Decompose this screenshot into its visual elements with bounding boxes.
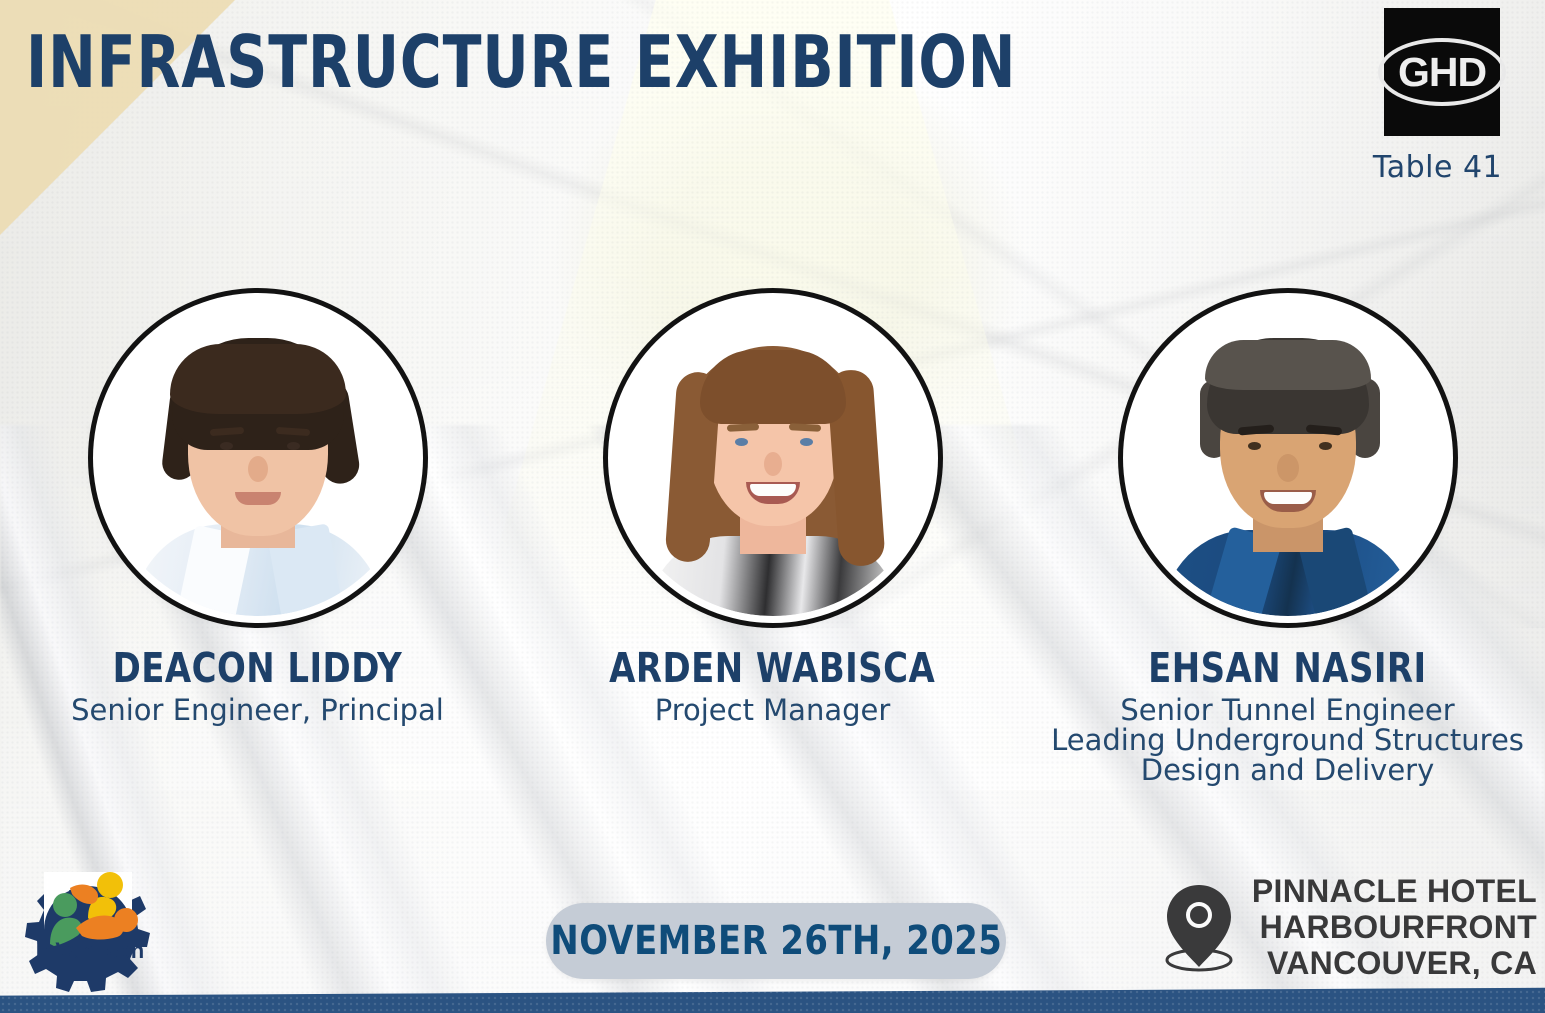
avatar (100, 300, 416, 616)
speaker-card-arden-wabisca: ARDEN WABISCA Project Manager (515, 300, 1030, 726)
venue-line: HARBOURFRONT (1252, 909, 1537, 945)
invantech-logo: InVanTech (14, 852, 166, 1002)
avatar (615, 300, 931, 616)
speaker-card-deacon-liddy: DEACON LIDDY Senior Engineer, Principal (0, 300, 515, 726)
page-title: INFRASTRUCTURE EXHIBITION (26, 26, 1016, 98)
speaker-role: Senior Engineer, Principal (71, 696, 444, 726)
portrait-hair (700, 350, 846, 424)
speaker-name: EHSAN NASIRI (1148, 644, 1427, 692)
speaker-role-line: Senior Tunnel Engineer (1051, 696, 1524, 726)
event-date: NOVEMBER 26TH, 2025 (550, 918, 1002, 964)
venue-line: PINNACLE HOTEL (1252, 873, 1537, 909)
portrait-mouth (235, 492, 281, 505)
speaker-name: ARDEN WABISCA (609, 644, 935, 692)
portrait-teeth (1264, 492, 1312, 504)
portrait-nose (248, 456, 268, 482)
portrait-eye-right (287, 442, 300, 450)
speaker-card-ehsan-nasiri: EHSAN NASIRI Senior Tunnel Engineer Lead… (1030, 300, 1545, 786)
speaker-name: DEACON LIDDY (113, 644, 403, 692)
portrait-arden-wabisca (615, 300, 931, 616)
map-pin-icon (1160, 881, 1238, 973)
table-number: Table 41 (1330, 150, 1545, 185)
ghd-logo: GHD (1384, 8, 1500, 136)
portrait-eye-right (1319, 442, 1332, 450)
portrait-nose (1277, 454, 1299, 482)
portrait-hair-highlight (170, 344, 346, 414)
speakers-row: DEACON LIDDY Senior Engineer, Principal (0, 300, 1545, 786)
venue-line: VANCOUVER, CA (1252, 945, 1537, 981)
portrait-nose (764, 452, 782, 476)
avatar (1130, 300, 1446, 616)
portrait-eye-left (220, 442, 233, 450)
speaker-role-line: Leading Underground Structures (1051, 726, 1524, 756)
portrait-teeth (750, 484, 796, 496)
ghd-logo-text: GHD (1378, 38, 1506, 106)
portrait-deacon-liddy (100, 300, 416, 616)
invantech-wordmark: InVanTech (36, 938, 144, 963)
speaker-role: Senior Tunnel Engineer Leading Undergrou… (1051, 696, 1524, 786)
portrait-hair-highlight (1205, 340, 1371, 390)
portrait-ehsan-nasiri (1130, 300, 1446, 616)
event-poster: INFRASTRUCTURE EXHIBITION GHD Table 41 (0, 0, 1545, 1013)
venue-address: PINNACLE HOTEL HARBOURFRONT VANCOUVER, C… (1252, 873, 1537, 981)
event-venue: PINNACLE HOTEL HARBOURFRONT VANCOUVER, C… (1160, 873, 1537, 981)
speaker-role-line: Project Manager (655, 696, 891, 726)
event-date-badge: NOVEMBER 26TH, 2025 (546, 903, 1006, 979)
portrait-eye-left (1248, 442, 1261, 450)
portrait-eye-left (735, 438, 748, 446)
speaker-role-line: Design and Delivery (1051, 756, 1524, 786)
portrait-eye-right (800, 438, 813, 446)
speaker-role-line: Senior Engineer, Principal (71, 696, 444, 726)
speaker-role: Project Manager (655, 696, 891, 726)
